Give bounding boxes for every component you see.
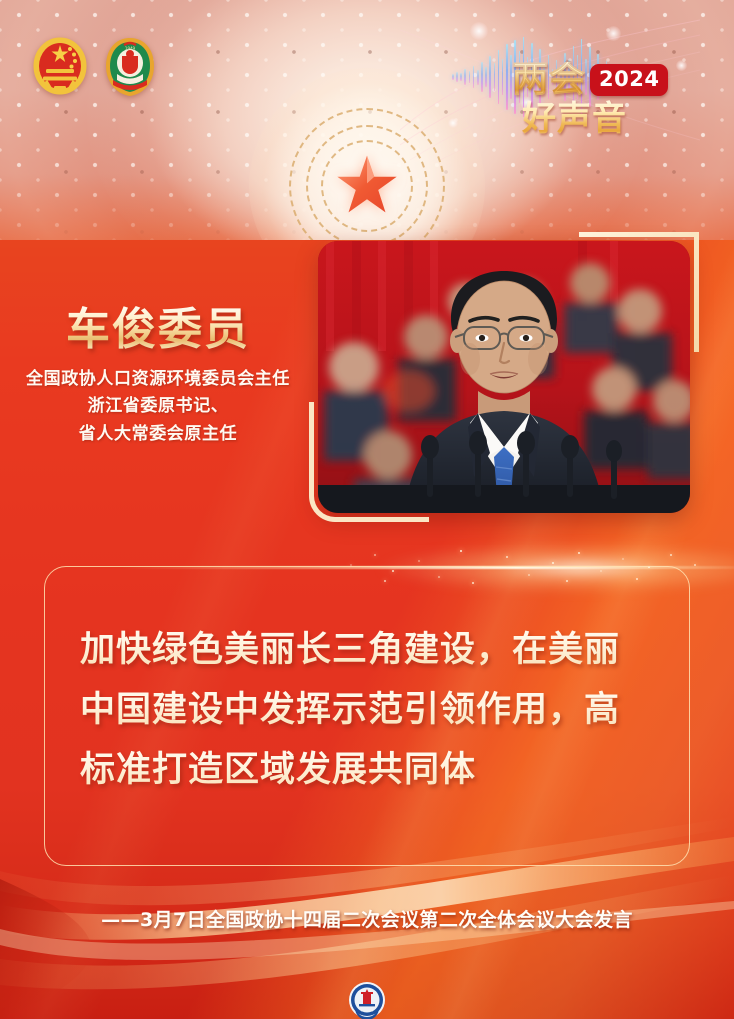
speaker-title-line: 全国政协人口资源环境委员会主任 <box>0 366 316 394</box>
brand-lockup: 两会 2024 好声音 <box>512 62 702 136</box>
brand-line1: 两会 <box>512 62 586 98</box>
brand-line2: 好声音 <box>522 99 627 139</box>
cppcc-emblem-icon: 1949 <box>102 36 158 98</box>
photo-frame-corner-bottom-left <box>309 402 429 522</box>
speaker-photo-wrap <box>318 241 690 513</box>
source-caption: ——3月7日全国政协十四届二次会议第二次全体会议大会发言 <box>0 905 734 932</box>
speaker-title-line: 浙江省委原书记、 <box>0 393 316 421</box>
quote-text: 加快绿色美丽长三角建设，在美丽 中国建设中发挥示范引领作用，高 标准打造区域发展… <box>80 620 660 801</box>
national-emblem-of-china-icon <box>32 36 88 98</box>
speaker-title-line: 省人大常委会原主任 <box>0 421 316 449</box>
media-round-emblem-icon: NEWS <box>348 981 386 1019</box>
brand-year-badge: 2024 <box>590 64 668 96</box>
speaker-name: 车俊委员 <box>0 306 316 354</box>
quote-line: 标准打造区域发展共同体 <box>80 740 660 800</box>
svg-text:NEWS: NEWS <box>361 1008 374 1013</box>
speaker-info: 车俊委员 全国政协人口资源环境委员会主任 浙江省委原书记、 省人大常委会原主任 <box>0 306 316 448</box>
poster-root: 1949 两会 2024 好声音 <box>0 0 734 1019</box>
quote-line: 加快绿色美丽长三角建设，在美丽 <box>80 620 660 680</box>
speaker-titles: 全国政协人口资源环境委员会主任 浙江省委原书记、 省人大常委会原主任 <box>0 366 316 449</box>
photo-frame-corner-top-right <box>579 232 699 352</box>
quote-line: 中国建设中发挥示范引领作用，高 <box>80 680 660 740</box>
svg-text:1949: 1949 <box>125 46 136 51</box>
emblem-group: 1949 <box>32 36 158 98</box>
